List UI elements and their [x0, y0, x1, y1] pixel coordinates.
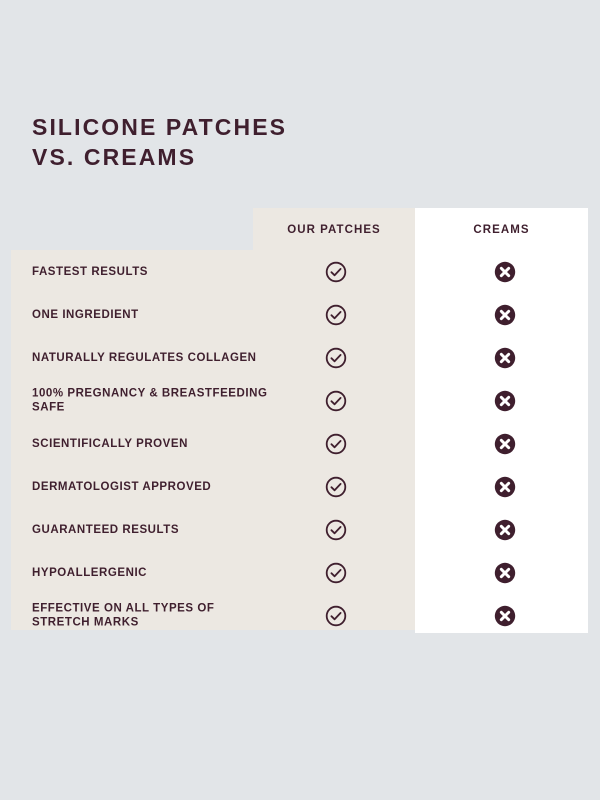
cross-circle-icon: [494, 304, 516, 326]
check-circle-icon: [325, 433, 347, 455]
row-feature-label: GUARANTEED RESULTS: [32, 522, 272, 537]
column-header-creams: CREAMS: [415, 224, 588, 236]
column-header-our-patches: OUR PATCHES: [253, 224, 415, 236]
table-row: EFFECTIVE ON ALL TYPES OF STRETCH MARKS: [0, 594, 600, 637]
check-circle-icon: [325, 476, 347, 498]
check-circle-icon: [325, 304, 347, 326]
page-title: SILICONE PATCHES VS. CREAMS: [32, 112, 362, 172]
comparison-infographic: SILICONE PATCHES VS. CREAMS OUR PATCHES …: [0, 0, 600, 800]
check-circle-icon: [325, 390, 347, 412]
row-feature-label: 100% PREGNANCY & BREASTFEEDING SAFE: [32, 386, 272, 415]
row-feature-label: HYPOALLERGENIC: [32, 565, 272, 580]
row-feature-label: ONE INGREDIENT: [32, 307, 272, 322]
row-feature-label: NATURALLY REGULATES COLLAGEN: [32, 350, 272, 365]
check-circle-icon: [325, 562, 347, 584]
cross-circle-icon: [494, 605, 516, 627]
table-row: FASTEST RESULTS: [0, 250, 600, 293]
cross-circle-icon: [494, 261, 516, 283]
table-row: HYPOALLERGENIC: [0, 551, 600, 594]
row-feature-label: EFFECTIVE ON ALL TYPES OF STRETCH MARKS: [32, 601, 272, 630]
check-circle-icon: [325, 261, 347, 283]
cross-circle-icon: [494, 476, 516, 498]
table-row: NATURALLY REGULATES COLLAGEN: [0, 336, 600, 379]
cross-circle-icon: [494, 347, 516, 369]
row-feature-label: FASTEST RESULTS: [32, 264, 272, 279]
cross-circle-icon: [494, 519, 516, 541]
table-row: GUARANTEED RESULTS: [0, 508, 600, 551]
check-circle-icon: [325, 347, 347, 369]
table-row: SCIENTIFICALLY PROVEN: [0, 422, 600, 465]
cross-circle-icon: [494, 390, 516, 412]
check-circle-icon: [325, 519, 347, 541]
cross-circle-icon: [494, 433, 516, 455]
row-feature-label: SCIENTIFICALLY PROVEN: [32, 436, 272, 451]
cross-circle-icon: [494, 562, 516, 584]
check-circle-icon: [325, 605, 347, 627]
table-row: 100% PREGNANCY & BREASTFEEDING SAFE: [0, 379, 600, 422]
table-row: DERMATOLOGIST APPROVED: [0, 465, 600, 508]
table-row: ONE INGREDIENT: [0, 293, 600, 336]
row-feature-label: DERMATOLOGIST APPROVED: [32, 479, 272, 494]
